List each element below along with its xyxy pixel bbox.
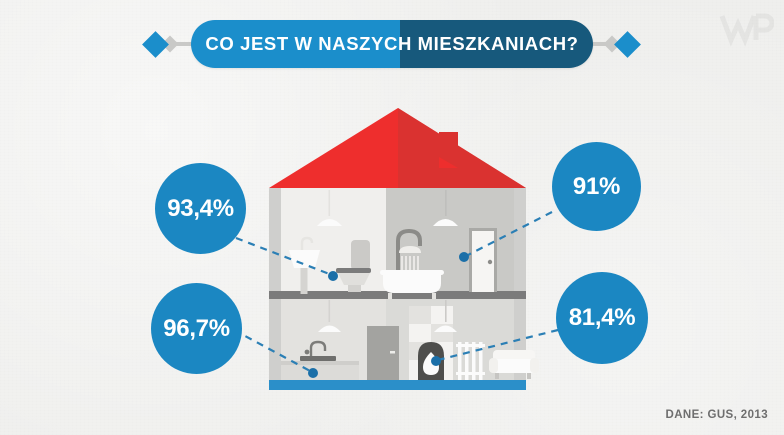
infographic-canvas: CO JEST W NASZYCH MIESZKANIACH? — [0, 0, 784, 435]
page-title: CO JEST W NASZYCH MIESZKANIACH? — [205, 33, 578, 55]
bubble-93-4[interactable]: 93,4% — [155, 163, 246, 254]
upper-door-handle-icon — [488, 260, 492, 264]
bubble-81-4[interactable]: 81,4% — [556, 272, 648, 364]
ribbon-tail-left — [148, 36, 194, 52]
ribbon-diamond-left-icon — [142, 31, 169, 58]
kitchen-tap-knob-icon — [305, 350, 310, 355]
kitchen-sink-icon — [300, 356, 336, 361]
boiler-tile-a-icon — [409, 306, 431, 324]
bathtub-rim-icon — [380, 270, 444, 275]
wp-watermark-logo — [718, 8, 774, 48]
sofa-arm-left-icon — [489, 358, 498, 373]
sofa-arm-right-icon — [530, 358, 539, 373]
pendant-cord-lower-right-icon — [445, 300, 447, 322]
bubble-81-4-label: 81,4% — [569, 304, 636, 332]
toilet-seat-icon — [336, 268, 371, 273]
radiator-top-rail-icon — [456, 344, 485, 347]
pendant-cord-upper-left-icon — [329, 190, 331, 216]
pendant-cord-upper-right-icon — [445, 190, 447, 216]
bubble-93-4-label: 93,4% — [167, 195, 234, 223]
room-upper-left — [281, 188, 386, 292]
title-banner: CO JEST W NASZYCH MIESZKANIACH? — [191, 20, 593, 68]
sofa-leg-left-icon — [495, 373, 499, 379]
lower-door-handle-icon — [390, 351, 395, 354]
bathtub-icon — [383, 273, 441, 293]
roof-right-face — [398, 108, 526, 188]
bathtub-foot-left-icon — [388, 293, 392, 299]
header-banner-group: CO JEST W NASZYCH MIESZKANIACH? — [0, 20, 784, 70]
bathtub-foot-right-icon — [432, 293, 436, 299]
ribbon-tail-right — [590, 36, 636, 52]
bubble-91-label: 91% — [573, 173, 620, 201]
toilet-cistern-icon — [351, 240, 370, 270]
sofa-leg-right-icon — [527, 373, 531, 379]
bathroom-sink-basin-icon — [289, 250, 320, 268]
toilet-base-icon — [348, 285, 361, 292]
bubble-96-7[interactable]: 96,7% — [151, 283, 242, 374]
house-base-line — [269, 380, 526, 390]
lower-door-group — [367, 326, 399, 380]
pendant-cord-lower-left-icon — [329, 300, 331, 322]
radiator-bottom-rail-icon — [456, 372, 485, 375]
bubble-91[interactable]: 91% — [552, 142, 641, 231]
kitchen-counter-top-icon — [281, 361, 359, 365]
kitchen-counter-body-icon — [281, 364, 359, 380]
upper-door-group — [469, 228, 497, 292]
sink-pedestal-icon — [301, 267, 308, 295]
house-illustration — [255, 100, 540, 390]
source-note: DANE: GUS, 2013 — [665, 409, 768, 421]
bubble-96-7-label: 96,7% — [163, 315, 230, 343]
ribbon-diamond-right-icon — [614, 31, 641, 58]
